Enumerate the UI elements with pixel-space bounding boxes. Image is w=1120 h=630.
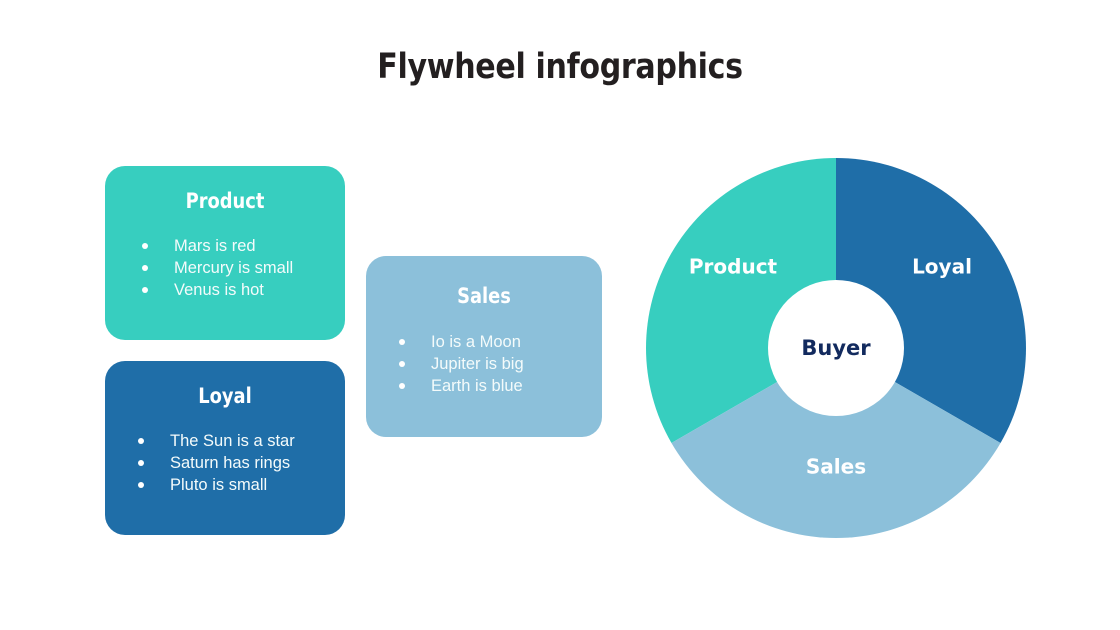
list-item: Pluto is small [138, 474, 345, 496]
bullet-dot-icon [138, 460, 144, 466]
card-loyal-bullet-list: The Sun is a star Saturn has rings Pluto… [105, 430, 345, 496]
list-item-text: Mercury is small [174, 257, 293, 279]
card-sales-title: Sales [384, 284, 585, 308]
list-item-text: Jupiter is big [431, 353, 524, 375]
card-loyal-title: Loyal [123, 384, 327, 408]
donut-svg: Product Loyal Sales Buyer [646, 158, 1026, 538]
card-sales[interactable]: Sales Io is a Moon Jupiter is big Earth … [366, 256, 602, 437]
bullet-dot-icon [399, 339, 405, 345]
donut-label-sales: Sales [806, 455, 866, 479]
bullet-dot-icon [399, 383, 405, 389]
list-item-text: Venus is hot [174, 279, 264, 301]
list-item-text: Pluto is small [170, 474, 267, 496]
list-item: Saturn has rings [138, 452, 345, 474]
donut-label-product: Product [689, 255, 778, 279]
list-item: Mars is red [142, 235, 345, 257]
slide-canvas: Flywheel infographics Product Mars is re… [0, 0, 1120, 630]
donut-center-label: Buyer [801, 336, 871, 360]
list-item: Earth is blue [399, 375, 602, 397]
donut-label-loyal: Loyal [912, 255, 972, 279]
list-item-text: Earth is blue [431, 375, 523, 397]
list-item-text: Saturn has rings [170, 452, 290, 474]
list-item: The Sun is a star [138, 430, 345, 452]
card-product-title: Product [123, 189, 327, 213]
list-item-text: Mars is red [174, 235, 256, 257]
card-product[interactable]: Product Mars is red Mercury is small Ven… [105, 166, 345, 340]
flywheel-donut-chart: Product Loyal Sales Buyer [646, 158, 1026, 538]
bullet-dot-icon [142, 243, 148, 249]
bullet-dot-icon [142, 265, 148, 271]
page-title: Flywheel infographics [78, 47, 1041, 87]
list-item-text: The Sun is a star [170, 430, 295, 452]
bullet-dot-icon [399, 361, 405, 367]
bullet-dot-icon [142, 287, 148, 293]
list-item: Mercury is small [142, 257, 345, 279]
bullet-dot-icon [138, 482, 144, 488]
card-sales-bullet-list: Io is a Moon Jupiter is big Earth is blu… [366, 331, 602, 397]
list-item-text: Io is a Moon [431, 331, 521, 353]
list-item: Io is a Moon [399, 331, 602, 353]
card-loyal[interactable]: Loyal The Sun is a star Saturn has rings… [105, 361, 345, 535]
bullet-dot-icon [138, 438, 144, 444]
list-item: Venus is hot [142, 279, 345, 301]
list-item: Jupiter is big [399, 353, 602, 375]
card-product-bullet-list: Mars is red Mercury is small Venus is ho… [105, 235, 345, 301]
